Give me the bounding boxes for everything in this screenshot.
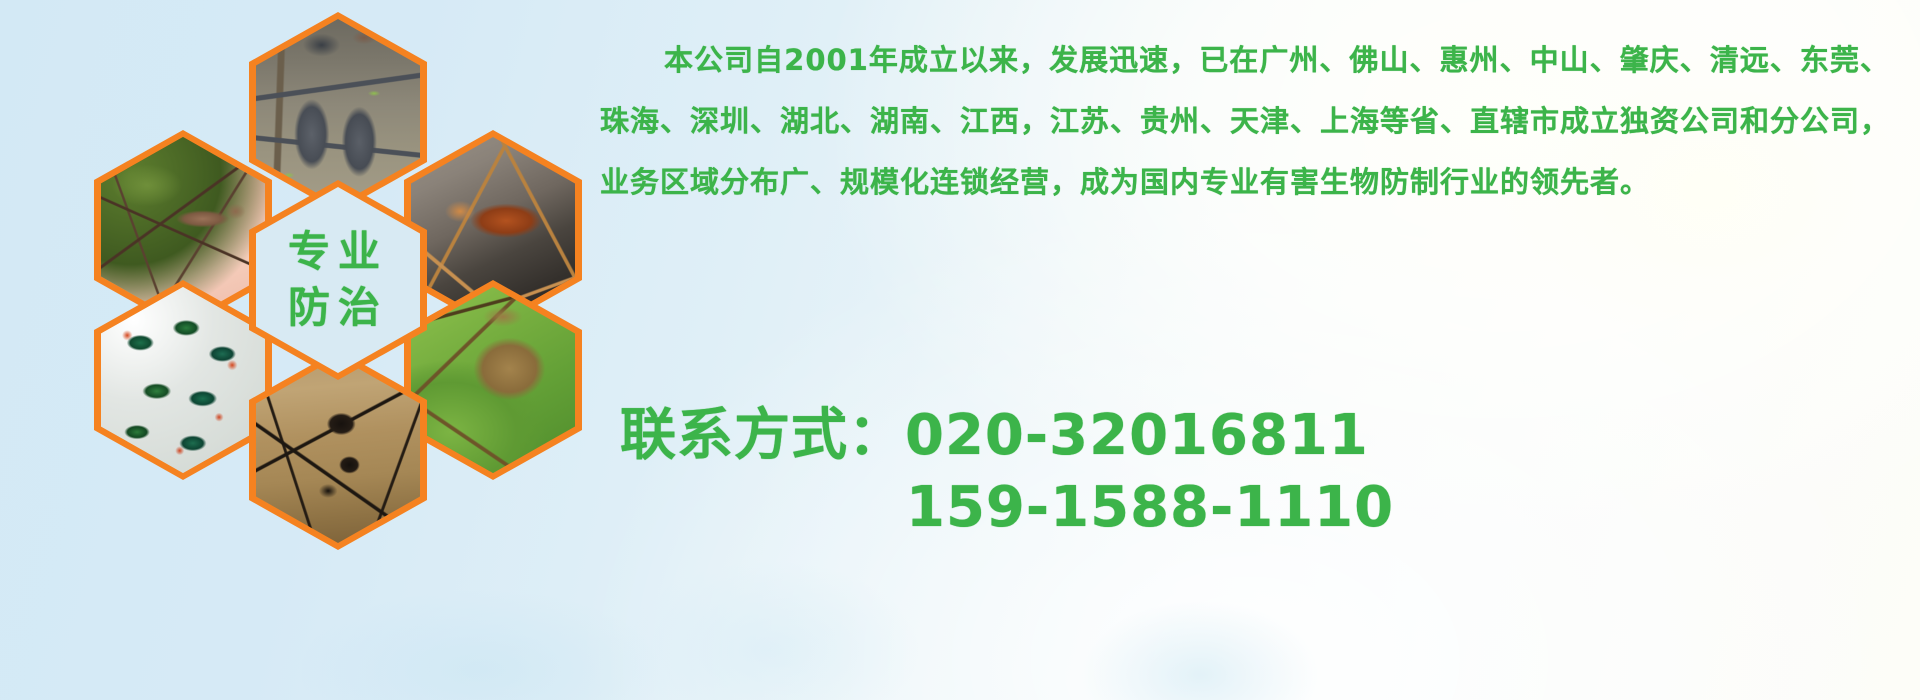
hex-tile-flies[interactable]: [94, 280, 272, 480]
hex-tile-stinkbug[interactable]: [404, 280, 582, 480]
hexagon-photo-cluster: 专业 防治: [86, 8, 586, 553]
slogan-line-1: 专业: [288, 231, 388, 273]
hex-tile-ant[interactable]: [249, 350, 427, 550]
copy-column: 本公司自2001年成立以来，发展迅速，已在广州、佛山、惠州、中山、肇庆、清远、东…: [600, 30, 1890, 213]
flies-photo-icon: [101, 287, 265, 473]
slogan-line-2: 防治: [288, 287, 388, 329]
contact-line-landline[interactable]: 联系方式：020-32016811: [620, 400, 1920, 472]
background-bokeh-2: [620, 560, 920, 700]
hex-inner-stinkbug: [411, 287, 575, 473]
slogan-text: 专业 防治: [256, 187, 420, 373]
background-bokeh-1: [1080, 600, 1320, 700]
contact-block: 联系方式：020-32016811 159-1588-1110: [620, 400, 1920, 544]
background-bokeh-3: [300, 590, 660, 700]
hex-inner-slogan: 专业 防治: [256, 187, 420, 373]
ant-photo-icon: [256, 357, 420, 543]
hex-tile-slogan: 专业 防治: [249, 180, 427, 380]
hex-inner-rat: [256, 19, 420, 205]
rat-photo-icon: [256, 19, 420, 205]
contact-line-mobile[interactable]: 159-1588-1110: [620, 472, 1920, 544]
company-intro-paragraph: 本公司自2001年成立以来，发展迅速，已在广州、佛山、惠州、中山、肇庆、清远、东…: [600, 30, 1890, 213]
hex-inner-ant: [256, 357, 420, 543]
stinkbug-photo-icon: [411, 287, 575, 473]
hex-inner-flies: [101, 287, 265, 473]
pest-control-banner: 专业 防治 本公司自2001年成立以来，发展迅速，已在广州、佛山、惠州、中山、肇…: [0, 0, 1920, 700]
